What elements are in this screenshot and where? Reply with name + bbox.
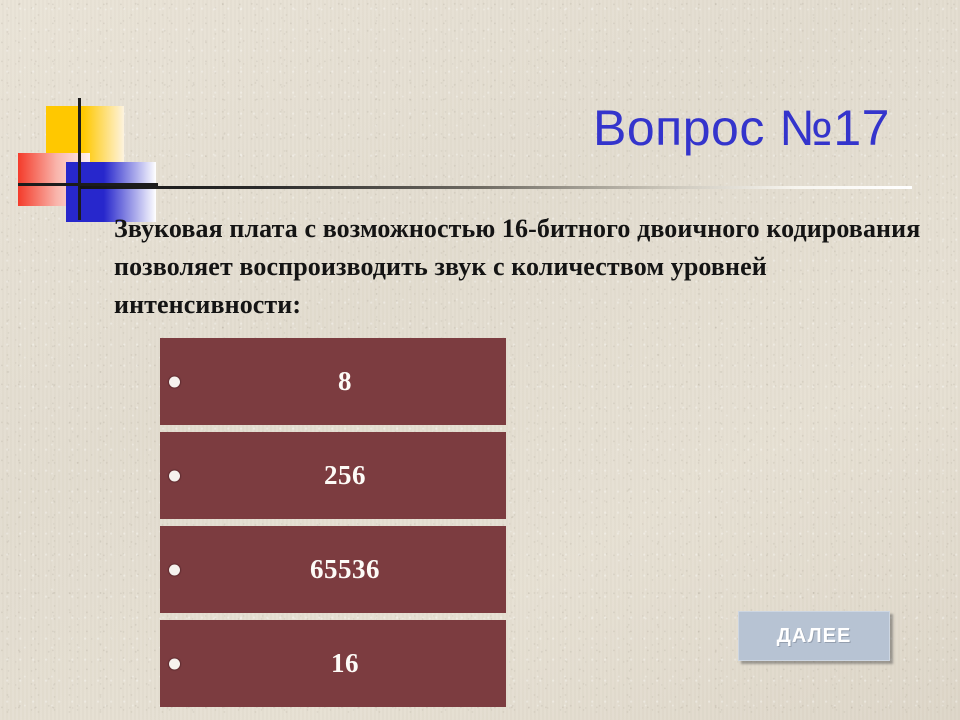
answer-option-label: 16 — [160, 648, 506, 679]
answer-options-list: 8 256 65536 16 — [160, 338, 506, 714]
answer-option-4[interactable]: 16 — [160, 620, 506, 707]
answer-option-label: 8 — [160, 366, 506, 397]
bullet-icon — [169, 658, 180, 669]
bullet-icon — [169, 470, 180, 481]
question-text: Звуковая плата с возможностью 16-битного… — [114, 210, 924, 324]
title-divider — [80, 186, 912, 189]
page-title: Вопрос №17 — [0, 103, 890, 153]
slide-canvas: Вопрос №17 Звуковая плата с возможностью… — [0, 0, 960, 720]
answer-option-3[interactable]: 65536 — [160, 526, 506, 613]
answer-option-2[interactable]: 256 — [160, 432, 506, 519]
bullet-icon — [169, 376, 180, 387]
next-button[interactable]: ДАЛЕЕ — [738, 611, 890, 661]
bullet-icon — [169, 564, 180, 575]
answer-option-1[interactable]: 8 — [160, 338, 506, 425]
next-button-label: ДАЛЕЕ — [777, 625, 852, 648]
answer-option-label: 256 — [160, 460, 506, 491]
answer-option-label: 65536 — [160, 554, 506, 585]
